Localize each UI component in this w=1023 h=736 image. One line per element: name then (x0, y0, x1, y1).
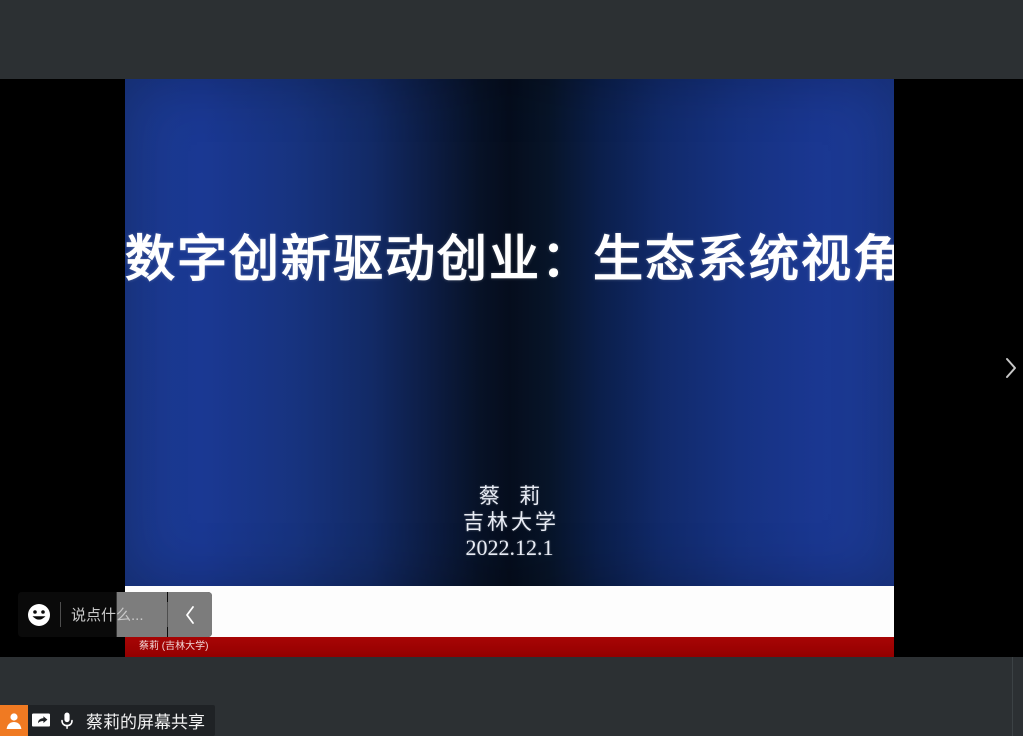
screen-share-indicator (28, 705, 54, 736)
chat-input-placeholder: 说点什么... (71, 604, 144, 625)
chat-input[interactable]: 说点什么... (61, 592, 167, 637)
slide-date: 2022.12.1 (125, 535, 894, 561)
presenter-status-bar: 蔡莉 (吉林大学) (125, 637, 894, 657)
slide-organization: 吉林大学 (125, 509, 894, 535)
slide-byline: 蔡 莉 吉林大学 2022.12.1 (125, 483, 894, 561)
slide-author: 蔡 莉 (125, 483, 894, 509)
presenter-taskbar-item[interactable]: 蔡莉的屏幕共享 (0, 705, 215, 736)
presenter-taskbar-label: 蔡莉的屏幕共享 (86, 708, 205, 733)
slide-title: 数字创新驱动创业：生态系统视角 (125, 231, 894, 289)
next-slide-button[interactable] (998, 352, 1023, 384)
presenter-status-label: 蔡莉 (吉林大学) (139, 640, 208, 654)
microphone-icon (59, 711, 75, 731)
emoji-picker-button[interactable] (18, 592, 60, 637)
person-icon (4, 711, 24, 731)
chat-composer[interactable]: 说点什么... (18, 592, 212, 637)
microphone-indicator (54, 705, 80, 736)
app-stage: 数字创新驱动创业：生态系统视角 蔡 莉 吉林大学 2022.12.1 蔡莉 (吉… (0, 0, 1023, 736)
avatar (0, 705, 28, 736)
presentation-slide[interactable]: 数字创新驱动创业：生态系统视角 蔡 莉 吉林大学 2022.12.1 (125, 79, 894, 586)
chevron-left-icon (184, 605, 196, 625)
chat-collapse-button[interactable] (168, 592, 212, 637)
chevron-right-icon (1004, 357, 1018, 379)
presenter-window-strip (125, 586, 894, 637)
top-toolbar (0, 0, 1023, 79)
bottom-toolbar-divider (1012, 657, 1013, 736)
smiley-face-icon (27, 603, 51, 627)
screen-share-icon (31, 712, 51, 730)
